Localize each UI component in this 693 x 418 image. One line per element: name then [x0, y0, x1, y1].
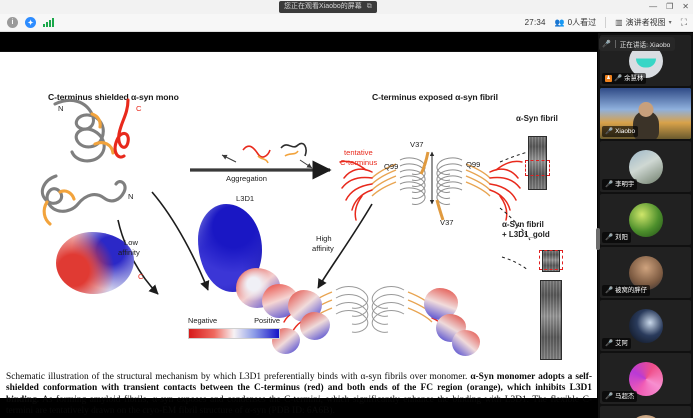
- label-n-terminus-top: N: [58, 104, 63, 113]
- toolbar-divider: [605, 17, 606, 28]
- color-key-positive: Positive: [254, 316, 280, 325]
- label-l3d1: L3D1: [236, 194, 254, 203]
- em-roi-top: [525, 160, 550, 176]
- participant-name-badge: 🎤 李明宇: [602, 179, 637, 190]
- label-c-terminus-top: C: [136, 104, 141, 113]
- label-v37-bottom: V37: [440, 218, 454, 227]
- mic-speaking-icon: 🎤: [602, 40, 611, 48]
- toolbar-right-group: 27:34 👥 0人看过 ▥ 演讲者视图 ▾ ⛶: [525, 17, 693, 28]
- label-q99-right: Q99: [466, 160, 480, 169]
- label-high-affinity-line2: affinity: [312, 244, 334, 253]
- viewers-label: 0人看过: [568, 17, 596, 28]
- mic-muted-icon: 🎤: [605, 286, 613, 295]
- monomer-bottom-backbone: [42, 176, 125, 224]
- participant-tile-1[interactable]: 🎤 Xiaobo: [600, 88, 691, 139]
- color-key-labels: Negative Positive: [188, 316, 280, 325]
- meeting-timer: 27:34: [525, 18, 546, 27]
- participant-name: 被窝的胖仔: [615, 286, 647, 295]
- active-speaker-label: 正在讲话: Xiaobo: [620, 39, 671, 49]
- window-title-bar: 您正在观看Xiaobo的屏幕 ⧉ — ❐ ✕: [0, 0, 693, 14]
- viewers-count[interactable]: 👥 0人看过: [555, 17, 596, 28]
- avatar: [629, 309, 663, 343]
- mic-muted-icon: 🎤: [605, 180, 613, 189]
- chevron-down-icon: ▾: [669, 19, 672, 26]
- avatar-head: [638, 102, 653, 117]
- active-speaker-indicator: 🎤 正在讲话: Xiaobo: [599, 37, 675, 51]
- participant-name: 艾阿: [615, 339, 628, 348]
- layout-icon: ▥: [615, 18, 623, 27]
- fullscreen-icon[interactable]: ⛶: [681, 17, 687, 28]
- caption-part-2: As forming amyloid fibrils, α-syn expose…: [6, 395, 592, 416]
- participants-icon: 👥: [555, 18, 565, 27]
- restore-button[interactable]: ❐: [666, 1, 673, 13]
- avatar: [629, 203, 663, 237]
- label-c-terminus-bottom: C: [138, 272, 143, 281]
- screen-share-banner: 您正在观看Xiaobo的屏幕 ⧉: [279, 1, 377, 13]
- participant-name: 刘阳: [615, 233, 628, 242]
- mic-active-icon: 🎤: [605, 127, 613, 136]
- em-roi-bottom-small: [539, 250, 563, 270]
- color-key-negative: Negative: [188, 316, 217, 325]
- label-low-affinity-line1: Low: [124, 238, 138, 247]
- participant-name-badge: 🎤 Xiaobo: [602, 126, 638, 137]
- participant-tile-4[interactable]: 🎤 被窝的胖仔: [600, 247, 691, 298]
- label-n-terminus-bottom: N: [128, 192, 133, 201]
- info-icon[interactable]: i: [7, 17, 18, 28]
- participant-tile-3[interactable]: 🎤 刘阳: [600, 194, 691, 245]
- participant-tile-6[interactable]: 🎤 马超杰: [600, 353, 691, 404]
- minimize-button[interactable]: —: [649, 1, 657, 13]
- em-bottom-leader-2: [502, 257, 528, 270]
- toolbar-left-group: i ✦: [0, 17, 54, 28]
- participant-name-badge: ♟ 🎤 余慧林: [602, 73, 646, 84]
- monomer-top-backbone: [55, 100, 128, 161]
- label-q99-left: Q99: [384, 162, 398, 171]
- share-screen-icon[interactable]: ⧉: [367, 1, 372, 13]
- host-badge-icon: ♟: [605, 75, 612, 82]
- participant-name: 马超杰: [615, 392, 634, 401]
- figure-caption: Schematic illustration of the structural…: [6, 372, 592, 418]
- speaker-divider: [615, 40, 616, 48]
- encryption-shield-icon[interactable]: ✦: [25, 17, 36, 28]
- caption-part-0: Schematic illustration of the structural…: [6, 372, 470, 382]
- label-low-affinity-line2: affinity: [118, 248, 140, 257]
- participant-name-badge: 🎤 刘阳: [602, 232, 631, 243]
- label-high-affinity-line1: High: [316, 234, 332, 243]
- electrostatic-color-key: Negative Positive: [188, 328, 280, 339]
- mic-muted-icon: 🎤: [605, 233, 613, 242]
- participant-name: 余慧林: [624, 74, 643, 83]
- participant-tile-5[interactable]: 🎤 艾阿: [600, 300, 691, 351]
- participant-tile-7[interactable]: 🎤 張小北: [600, 406, 691, 418]
- label-em-top-title: α-Syn fibril: [516, 114, 558, 123]
- mic-muted-icon: 🎤: [605, 339, 613, 348]
- em-micrograph-bottom: [540, 280, 562, 360]
- label-v37-top: V37: [410, 140, 424, 149]
- mic-muted-icon: 🎤: [614, 74, 622, 83]
- slide-canvas: C-terminus shielded α-syn mono C-terminu…: [0, 51, 597, 398]
- participant-tile-2[interactable]: 🎤 李明宇: [600, 141, 691, 192]
- window-controls: — ❐ ✕: [649, 1, 689, 13]
- participant-name: 李明宇: [615, 180, 634, 189]
- participant-name-badge: 🎤 艾阿: [602, 338, 631, 349]
- label-tentative-line1: tentative: [344, 148, 373, 157]
- close-button[interactable]: ✕: [682, 1, 689, 13]
- sidebar-drag-handle[interactable]: [596, 228, 600, 250]
- participants-sidebar[interactable]: ♟ 🎤 余慧林 🎤 Xiaobo 🎤 李明宇: [598, 33, 693, 418]
- participant-name-badge: 🎤 马超杰: [602, 391, 637, 402]
- shared-screen-stage: C-terminus shielded α-syn mono C-terminu…: [0, 33, 598, 418]
- label-em-bottom-title-2: + L3D1_gold: [502, 230, 550, 239]
- share-banner-label: 您正在观看Xiaobo的屏幕: [284, 1, 362, 13]
- color-key-gradient-bar: [188, 328, 280, 339]
- aggregation-monomer-icons: [222, 143, 312, 168]
- participant-name-badge: 🎤 被窝的胖仔: [602, 285, 650, 296]
- network-quality-icon[interactable]: [43, 18, 54, 27]
- zoom-meeting-window: 您正在观看Xiaobo的屏幕 ⧉ — ❐ ✕ i ✦ 27:34 👥 0人看过 …: [0, 0, 693, 418]
- label-aggregation: Aggregation: [226, 174, 267, 183]
- label-em-bottom-title-1: α-Syn fibril: [502, 220, 544, 229]
- label-tentative-line2: C-terminus: [340, 158, 377, 167]
- view-mode-label: 演讲者视图: [626, 17, 666, 28]
- avatar: [629, 415, 663, 418]
- meeting-toolbar: i ✦ 27:34 👥 0人看过 ▥ 演讲者视图 ▾ ⛶: [0, 14, 693, 32]
- view-mode-selector[interactable]: ▥ 演讲者视图 ▾: [615, 17, 672, 28]
- mic-muted-icon: 🎤: [605, 392, 613, 401]
- participant-name: Xiaobo: [615, 127, 635, 136]
